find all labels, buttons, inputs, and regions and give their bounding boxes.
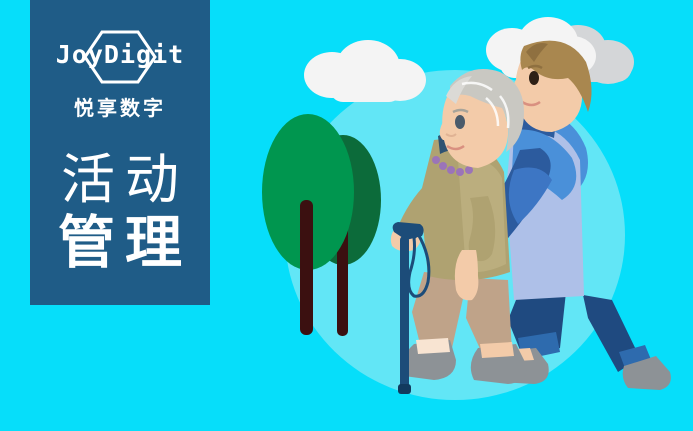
elder-right-hand	[455, 250, 479, 300]
logo-chinese-name: 悦享数字	[74, 92, 166, 121]
page-title-line-1: 活动	[30, 151, 210, 209]
brand-logo: JoyDigit	[45, 28, 195, 86]
logo-wordmark: JoyDigit	[45, 40, 195, 70]
elder-back-ankle	[480, 342, 514, 358]
elder-eye	[455, 115, 465, 129]
elder-front-ankle	[416, 338, 450, 354]
page-title: 活动 管理	[30, 151, 210, 275]
youth-eye	[529, 71, 539, 85]
cane-tip	[398, 384, 411, 394]
page-title-line-2: 管理	[30, 213, 210, 275]
cane-shaft	[400, 236, 409, 388]
brand-panel: JoyDigit 悦享数字 活动 管理	[30, 0, 210, 305]
illustration-banner: JoyDigit 悦享数字 活动 管理	[0, 0, 693, 431]
